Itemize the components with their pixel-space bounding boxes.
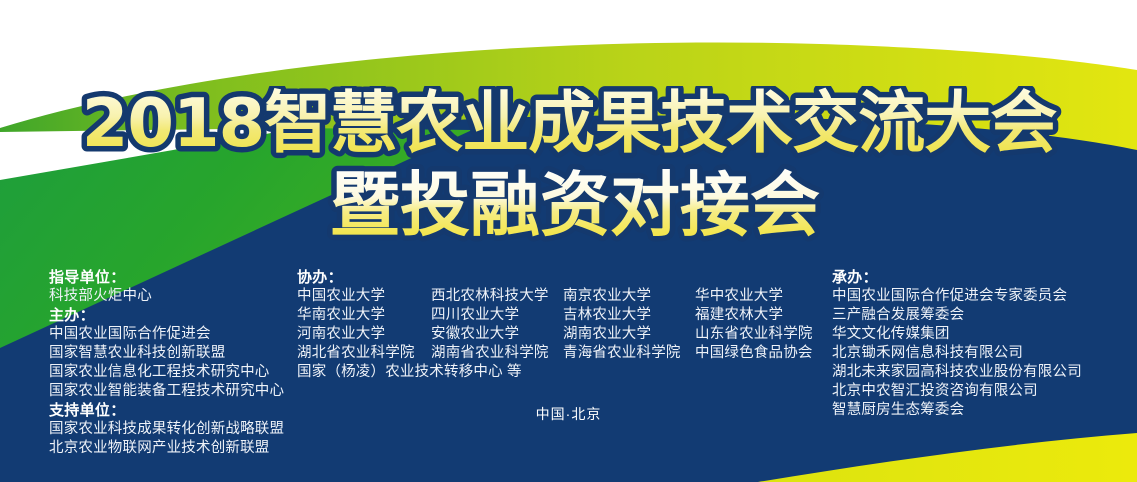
left-credits-column: 指导单位： 科技部火炬中心 主办： 中国农业国际合作促进会 国家智慧农业科技创新… (49, 268, 284, 458)
coorganizer-item: 四川农业大学 (431, 306, 563, 325)
coorganizer-item: 华南农业大学 (297, 306, 431, 325)
conference-banner: 2018智慧农业成果技术交流大会 暨投融资对接会 指导单位： 科技部火炬中心 主… (0, 0, 1137, 482)
coorganizer-item: 河南农业大学 (297, 325, 431, 344)
organizer-item: 三产融合发展筹委会 (832, 306, 1082, 325)
coorganizer-grid: 中国农业大学 西北农林科技大学 南京农业大学 华中农业大学 华南农业大学 四川农… (297, 287, 819, 363)
coorganizer-item: 福建农林大学 (695, 306, 819, 325)
coorganizer-item: 吉林农业大学 (563, 306, 695, 325)
coorganizer-item: 南京农业大学 (563, 287, 695, 306)
organizer-item: 北京锄禾网信息科技有限公司 (832, 344, 1082, 363)
organizer-label: 承办： (832, 268, 1082, 287)
coorganizer-item: 山东省农业科学院 (695, 325, 819, 344)
host-item: 国家农业信息化工程技术研究中心 (49, 363, 284, 382)
coorganizer-item: 安徽农业大学 (431, 325, 563, 344)
guide-unit-item: 科技部火炬中心 (49, 287, 284, 306)
organizer-item: 湖北未来家园高科技农业股份有限公司 (832, 363, 1082, 382)
support-unit-item: 北京农业物联网产业技术创新联盟 (49, 439, 284, 458)
host-item: 中国农业国际合作促进会 (49, 325, 284, 344)
guide-unit-label: 指导单位： (49, 268, 284, 287)
middle-credits-column: 协办： 中国农业大学 西北农林科技大学 南京农业大学 华中农业大学 华南农业大学… (297, 268, 819, 382)
coorganizer-item: 华中农业大学 (695, 287, 819, 306)
coorganizer-item: 西北农林科技大学 (431, 287, 563, 306)
venue-text: 中国·北京 (0, 404, 1137, 424)
coorganizer-item: 湖南省农业科学院 (431, 344, 563, 363)
coorganizer-item-last: 国家（杨凌）农业技术转移中心 等 (297, 363, 819, 382)
host-label: 主办： (49, 306, 284, 325)
coorganizer-item: 青海省农业科学院 (563, 344, 695, 363)
coorganizer-item: 湖北省农业科学院 (297, 344, 431, 363)
right-credits-column: 承办： 中国农业国际合作促进会专家委员会 三产融合发展筹委会 华文文化传媒集团 … (832, 268, 1082, 420)
host-item: 国家农业智能装备工程技术研究中心 (49, 382, 284, 401)
coorganizer-item: 中国农业大学 (297, 287, 431, 306)
coorganizer-item: 中国绿色食品协会 (695, 344, 819, 363)
organizer-item: 北京中农智汇投资咨询有限公司 (832, 382, 1082, 401)
coorganizer-item: 湖南农业大学 (563, 325, 695, 344)
organizer-item: 华文文化传媒集团 (832, 325, 1082, 344)
organizer-item: 中国农业国际合作促进会专家委员会 (832, 287, 1082, 306)
coorganizer-label: 协办： (297, 268, 819, 287)
host-item: 国家智慧农业科技创新联盟 (49, 344, 284, 363)
